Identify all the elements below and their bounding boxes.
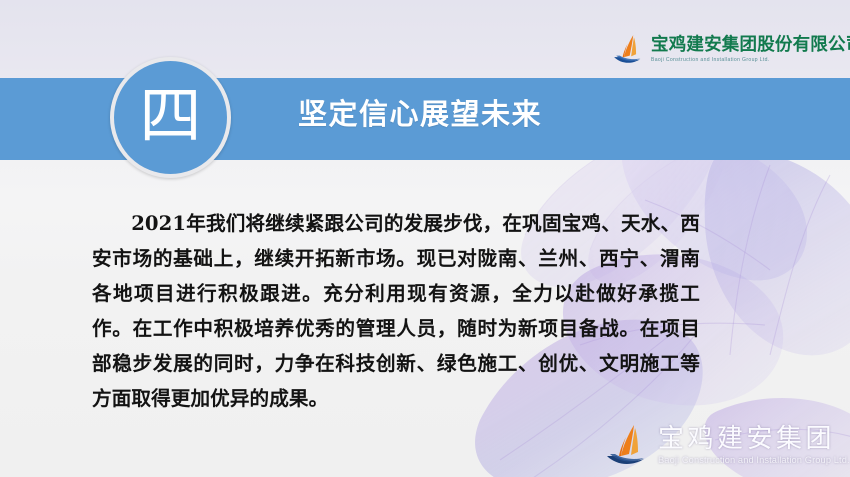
company-logo-header-text: 宝鸡建安集团股份有限公司 Baoji Construction and Inst… bbox=[651, 37, 850, 63]
company-logo-watermark: 宝鸡建安集团 Baoji Construction and Installati… bbox=[604, 418, 848, 474]
company-logo-header: 宝鸡建安集团股份有限公司 Baoji Construction and Inst… bbox=[612, 28, 844, 72]
section-number-badge: 四 bbox=[110, 57, 231, 178]
company-name-cn: 宝鸡建安集团 bbox=[658, 426, 850, 452]
section-number-label: 四 bbox=[139, 85, 201, 147]
company-name-en: Baoji Construction and Installation Grou… bbox=[658, 456, 850, 465]
body-paragraph: 2021年我们将继续紧跟公司的发展步伐，在巩固宝鸡、天水、西安市场的基础上，继续… bbox=[92, 206, 700, 416]
company-name-cn: 宝鸡建安集团股份有限公司 bbox=[651, 37, 850, 55]
company-logo-watermark-text: 宝鸡建安集团 Baoji Construction and Installati… bbox=[658, 426, 850, 465]
company-name-en: Baoji Construction and Installation Grou… bbox=[651, 58, 850, 63]
slide-canvas: 宝鸡建安集团股份有限公司 Baoji Construction and Inst… bbox=[0, 0, 850, 477]
sailboat-flame-logo-icon bbox=[612, 33, 646, 67]
body-year-emphasis: 2021 bbox=[131, 212, 186, 235]
body-paragraph-text: 年我们将继续紧跟公司的发展步伐，在巩固宝鸡、天水、西安市场的基础上，继续开拓新市… bbox=[92, 212, 700, 410]
sailboat-flame-logo-icon bbox=[604, 423, 652, 469]
section-title: 坚定信心展望未来 bbox=[298, 100, 542, 129]
